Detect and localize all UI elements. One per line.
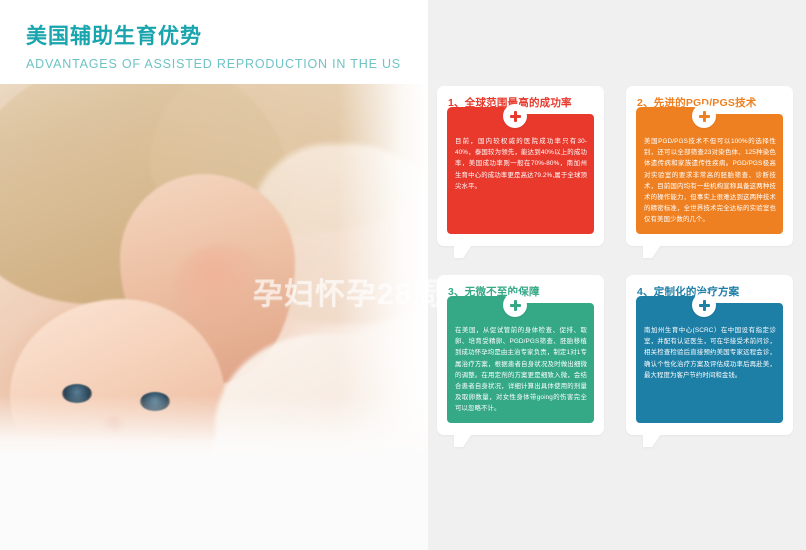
card-bubble-tail (454, 245, 472, 258)
card-panel: 目前，国内较权威的医院成功率只有30-40%，泰国较为领先，能达到40%以上的成… (447, 114, 594, 234)
photo-bottom-fade (0, 395, 428, 455)
card-body-text: 南加州生育中心(SCRC）在中国设有指定诊室，并配有认证医生，可在华接受术前问诊… (644, 325, 776, 381)
card-panel: 南加州生育中心(SCRC）在中国设有指定诊室，并配有认证医生，可在华接受术前问诊… (636, 303, 783, 423)
card-body-text: 在美国，从促试管前的身体检查、促排、取卵、培育受精卵、PGD/PGS筛查、胚胎移… (455, 325, 587, 415)
advantage-card-grid: 1、全球范围最高的成功率 目前，国内较权威的医院成功率只有30-40%，泰国较为… (437, 86, 793, 455)
card-bubble-tail (454, 434, 472, 447)
card-panel: 美国PGD/PGS技术不但可以100%的选择性别，还可以全部筛查23对染色体、1… (636, 114, 783, 234)
card-body-text: 目前，国内较权威的医院成功率只有30-40%，泰国较为领先，能达到40%以上的成… (455, 136, 587, 192)
card-body-text: 美国PGD/PGS技术不但可以100%的选择性别，还可以全部筛查23对染色体、1… (644, 136, 776, 226)
photo-cheek-highlight (175, 244, 270, 329)
advantage-card-2[interactable]: 2、先进的PGD/PGS技术 美国PGD/PGS技术不但可以100%的选择性别，… (626, 86, 793, 266)
medical-plus-icon (692, 293, 716, 317)
page-header: 美国辅助生育优势 ADVANTAGES OF ASSISTED REPRODUC… (26, 24, 426, 74)
medical-plus-icon (692, 104, 716, 128)
hero-photo (0, 84, 428, 455)
page-title: 美国辅助生育优势 (26, 24, 426, 50)
page-subtitle: ADVANTAGES OF ASSISTED REPRODUCTION IN T… (26, 54, 426, 74)
page-root: 美国辅助生育优势 ADVANTAGES OF ASSISTED REPRODUC… (0, 0, 806, 550)
advantage-card-1[interactable]: 1、全球范围最高的成功率 目前，国内较权威的医院成功率只有30-40%，泰国较为… (437, 86, 604, 266)
card-bubble-tail (643, 245, 661, 258)
advantage-card-3[interactable]: 3、无微不至的保障 在美国，从促试管前的身体检查、促排、取卵、培育受精卵、PGD… (437, 275, 604, 455)
medical-plus-icon (503, 104, 527, 128)
card-panel: 在美国，从促试管前的身体检查、促排、取卵、培育受精卵、PGD/PGS筛查、胚胎移… (447, 303, 594, 423)
card-bubble-tail (643, 434, 661, 447)
advantage-card-4[interactable]: 4、定制化的治疗方案 南加州生育中心(SCRC）在中国设有指定诊室，并配有认证医… (626, 275, 793, 455)
medical-plus-icon (503, 293, 527, 317)
bottom-strip (0, 455, 428, 550)
